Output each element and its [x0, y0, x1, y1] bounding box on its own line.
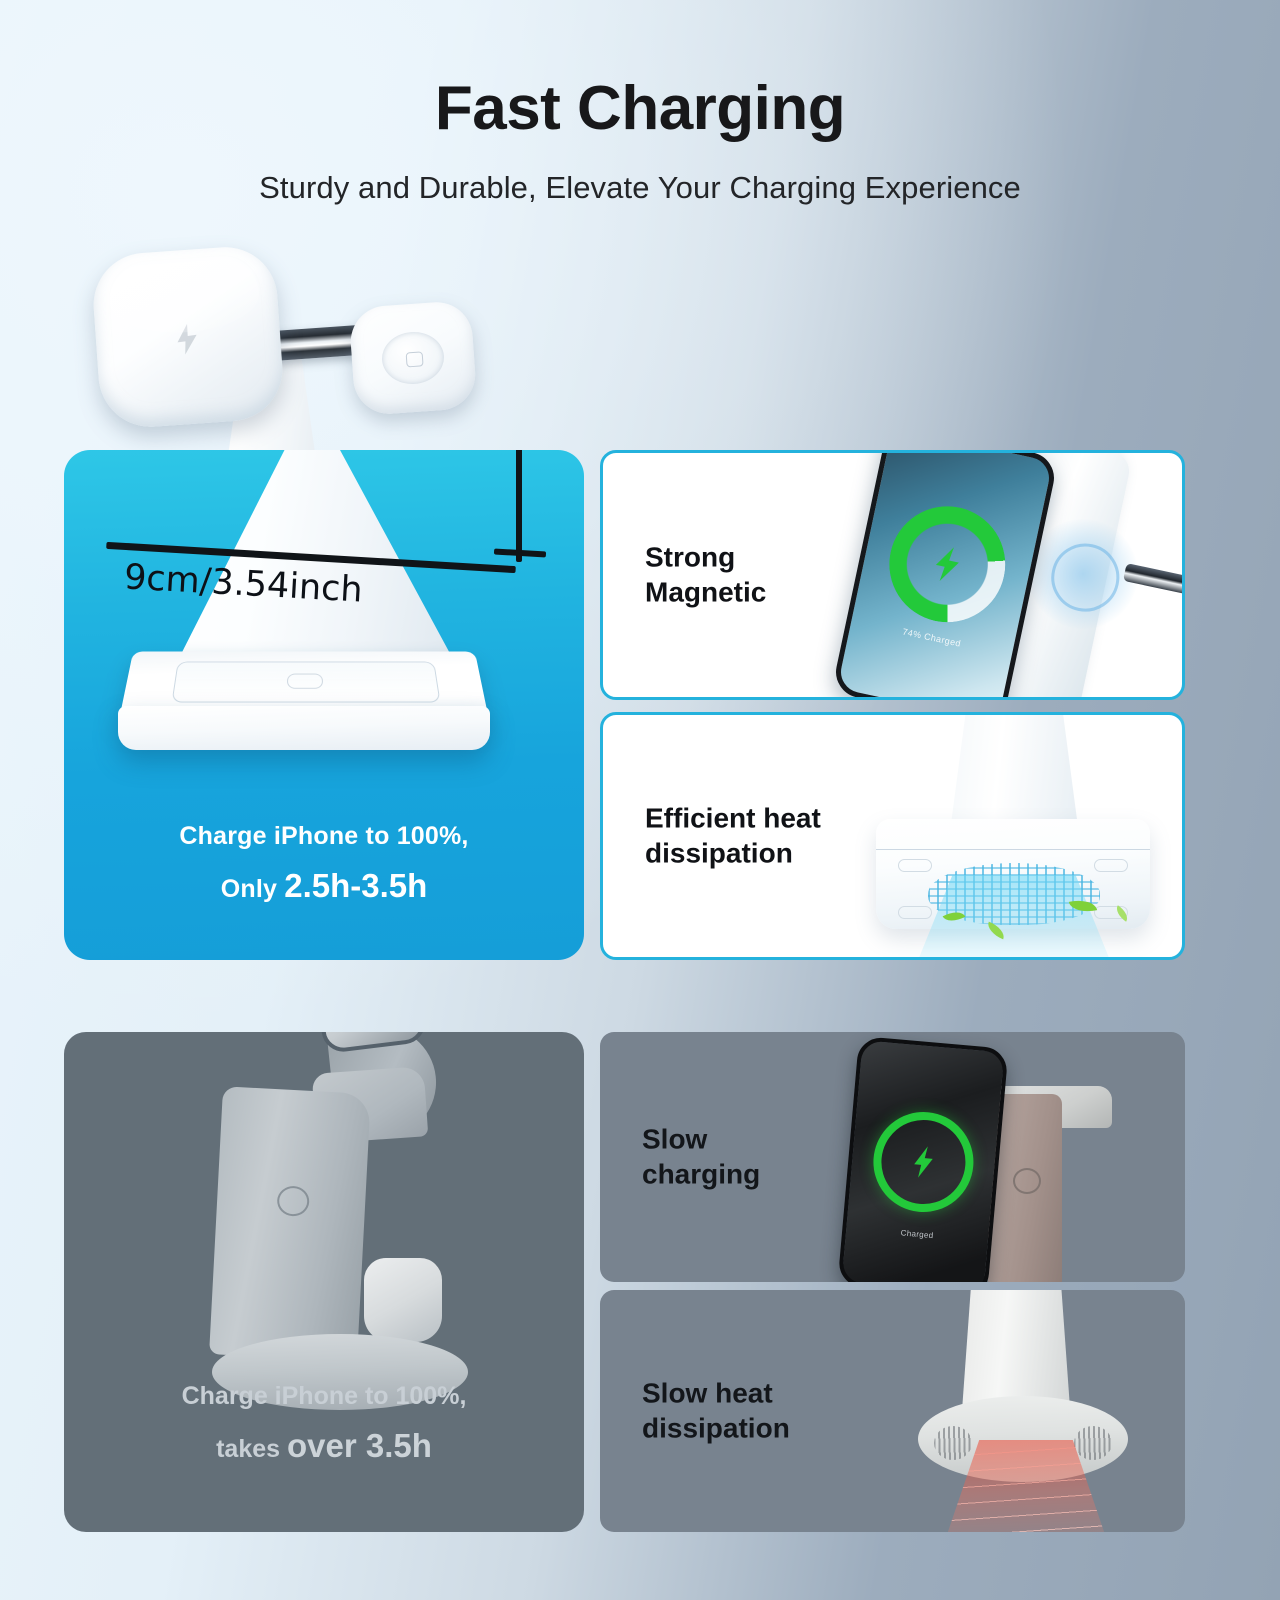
- slow-charge-caption: Charge iPhone to 100%, takes over 3.5h: [64, 1382, 584, 1465]
- fast-charge-duration: 2.5h-3.5h: [284, 867, 427, 904]
- magnetic-illustration: 74% Charged: [822, 453, 1182, 697]
- magsafe-pad: [90, 244, 286, 430]
- competitor-body-stem: [960, 1290, 1070, 1408]
- base-foot: [898, 906, 932, 919]
- fast-charge-caption: Charge iPhone to 100%, Only 2.5h-3.5h: [64, 822, 584, 905]
- page-subtitle: Sturdy and Durable, Elevate Your Chargin…: [0, 140, 1280, 206]
- feature-card-heat-dissipation: Efficient heat dissipation: [600, 712, 1185, 960]
- base-foot: [1094, 859, 1128, 872]
- slow-charge-caption-line1: Charge iPhone to 100%,: [64, 1382, 584, 1411]
- competitor-stem: [209, 1086, 371, 1361]
- charge-status-text: Charged: [846, 1223, 988, 1244]
- infographic-page: Fast Charging Sturdy and Durable, Elevat…: [0, 0, 1280, 1600]
- comparison-panel: Charge iPhone to 100%, takes over 3.5h: [64, 1032, 584, 1532]
- slow-charge-prefix: takes: [216, 1435, 287, 1463]
- comparison-card-slow-charging: Slow charging Charged: [600, 1032, 1185, 1282]
- feature-card-label: Efficient heat dissipation: [645, 801, 821, 872]
- charger-panel-base: [118, 706, 490, 750]
- comparison-card-label: Slow charging: [642, 1122, 760, 1193]
- earbuds-case: [364, 1258, 442, 1342]
- slow-charging-phone: Charged: [837, 1036, 1008, 1282]
- base-foot: [898, 859, 932, 872]
- feature-card-label: Strong Magnetic: [645, 540, 766, 611]
- watch-puck-ring: [380, 330, 445, 386]
- dimension-rule-vertical: [516, 450, 522, 562]
- fast-charge-caption-line2: Only 2.5h-3.5h: [64, 851, 584, 905]
- charger-in-panel: 16cm/6.3inch 9cm/3.54inch 12.5cm/4.92inc…: [64, 450, 584, 774]
- lightning-bolt-icon: [911, 1145, 936, 1179]
- heat-dissipation-illustration: [852, 715, 1182, 957]
- fast-charge-caption-line1: Charge iPhone to 100%,: [64, 822, 584, 851]
- dimensions-panel: 16cm/6.3inch 9cm/3.54inch 12.5cm/4.92inc…: [64, 450, 584, 960]
- header: Fast Charging Sturdy and Durable, Elevat…: [0, 0, 1280, 206]
- feature-card-strong-magnetic: Strong Magnetic 74% Charged: [600, 450, 1185, 700]
- fast-charge-prefix: Only: [221, 875, 285, 903]
- charger-body-stem: [948, 715, 1078, 827]
- comparison-card-label: Slow heat dissipation: [642, 1376, 790, 1447]
- charge-status-text: 74% Charged: [851, 615, 1013, 659]
- slow-charge-duration: over 3.5h: [287, 1427, 432, 1464]
- lightning-bolt-icon: [172, 322, 202, 355]
- page-title: Fast Charging: [0, 0, 1280, 140]
- slow-charge-caption-line2: takes over 3.5h: [64, 1411, 584, 1465]
- comparison-card-slow-heat: Slow heat dissipation: [600, 1290, 1185, 1532]
- watch-charging-puck: [348, 300, 477, 416]
